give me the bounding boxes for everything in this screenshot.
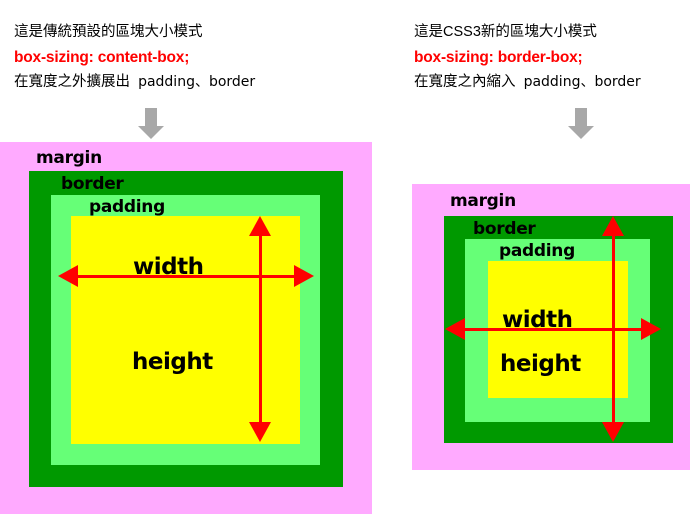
box-figure-border-box: margin border padding width height [412,184,690,470]
caption-code-content-box: box-sizing: content-box; [14,45,255,70]
caption-line-3: 在寬度之外擴展出 padding、border [14,70,255,95]
caption-line-1: 這是傳統預設的區塊大小模式 [14,20,255,45]
height-arrow-line [259,236,262,422]
height-label: height [132,349,213,375]
height-label: height [500,351,581,377]
box-sizing-diagram: 這是傳統預設的區塊大小模式 box-sizing: content-box; 在… [0,0,700,514]
caption-line-3-cjk: 在寬度之內縮入 [414,74,516,90]
height-arrow-head-down [602,422,624,442]
height-arrow-line [612,236,615,422]
arrow-head [568,126,594,139]
caption-code-border-box: box-sizing: border-box; [414,45,641,70]
arrow-shaft [575,108,587,126]
caption-line-3-latin: padding、border [138,74,255,90]
height-arrow-head-up [249,216,271,236]
arrow-head [138,126,164,139]
label-border: border [473,219,536,239]
caption-line-3-cjk: 在寬度之外擴展出 [14,74,130,90]
arrow-shaft [145,108,157,126]
width-label: width [502,307,572,333]
label-border: border [61,174,124,194]
caption-line-3-latin: padding、border [524,74,641,90]
caption-line-3: 在寬度之內縮入 padding、border [414,70,641,95]
width-arrow-head-left [58,265,78,287]
label-padding: padding [499,241,575,261]
width-arrow-head-right [294,265,314,287]
box-figure-content-box: margin border padding width height [0,142,372,514]
caption-content-box: 這是傳統預設的區塊大小模式 box-sizing: content-box; 在… [14,20,255,95]
height-arrow-head-down [249,422,271,442]
width-arrow-head-right [641,318,661,340]
content-layer [71,216,300,444]
label-margin: margin [450,191,516,211]
caption-line-1: 這是CSS3新的區塊大小模式 [414,20,641,45]
width-arrow-head-left [445,318,465,340]
label-padding: padding [89,197,165,217]
height-arrow-head-up [602,216,624,236]
caption-border-box: 這是CSS3新的區塊大小模式 box-sizing: border-box; 在… [414,20,641,95]
label-margin: margin [36,148,102,168]
width-label: width [133,254,203,280]
